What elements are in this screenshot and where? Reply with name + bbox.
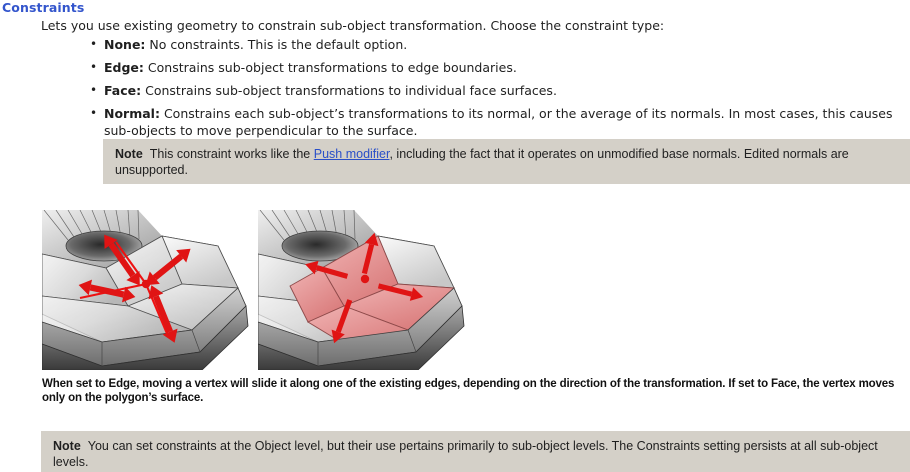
note-top-text: NoteThis constraint works like the Push … xyxy=(115,146,900,178)
constraint-type-list: None: No constraints. This is the defaul… xyxy=(88,36,908,145)
figure-edge-constraint xyxy=(42,210,250,370)
constraint-term: Normal: xyxy=(104,106,160,121)
figure-face-constraint xyxy=(258,210,466,370)
list-item: Edge: Constrains sub-object transformati… xyxy=(88,59,908,76)
note-label: Note xyxy=(115,147,143,161)
edge-constraint-illustration xyxy=(42,210,250,370)
constraint-description: Constrains sub-object transformations to… xyxy=(144,60,517,75)
constraint-term: Face: xyxy=(104,83,141,98)
constraint-description: No constraints. This is the default opti… xyxy=(145,37,407,52)
note-top-text-before-link: This constraint works like the xyxy=(150,147,314,161)
selected-vertex xyxy=(361,275,369,283)
note-label: Note xyxy=(53,439,81,453)
constraint-description: Constrains sub-object transformations to… xyxy=(141,83,557,98)
note-box-bottom: NoteYou can set constraints at the Objec… xyxy=(41,431,910,472)
list-item: None: No constraints. This is the defaul… xyxy=(88,36,908,53)
note-bottom-body: You can set constraints at the Object le… xyxy=(53,439,878,469)
documentation-page: Constraints Lets you use existing geomet… xyxy=(0,0,910,472)
constraint-term: Edge: xyxy=(104,60,144,75)
constraint-description: Constrains each sub-object’s transformat… xyxy=(104,106,893,138)
constraint-term: None: xyxy=(104,37,145,52)
push-modifier-link[interactable]: Push modifier xyxy=(314,147,390,161)
selected-vertex xyxy=(142,280,150,288)
intro-paragraph: Lets you use existing geometry to constr… xyxy=(41,17,664,34)
note-bottom-text: NoteYou can set constraints at the Objec… xyxy=(53,438,900,470)
figure-caption: When set to Edge, moving a vertex will s… xyxy=(42,378,910,405)
figure-row xyxy=(42,210,472,370)
note-box-top: NoteThis constraint works like the Push … xyxy=(103,139,910,184)
face-constraint-illustration xyxy=(258,210,466,370)
list-item: Face: Constrains sub-object transformati… xyxy=(88,82,908,99)
page-title: Constraints xyxy=(2,0,84,16)
list-item: Normal: Constrains each sub-object’s tra… xyxy=(88,105,908,139)
